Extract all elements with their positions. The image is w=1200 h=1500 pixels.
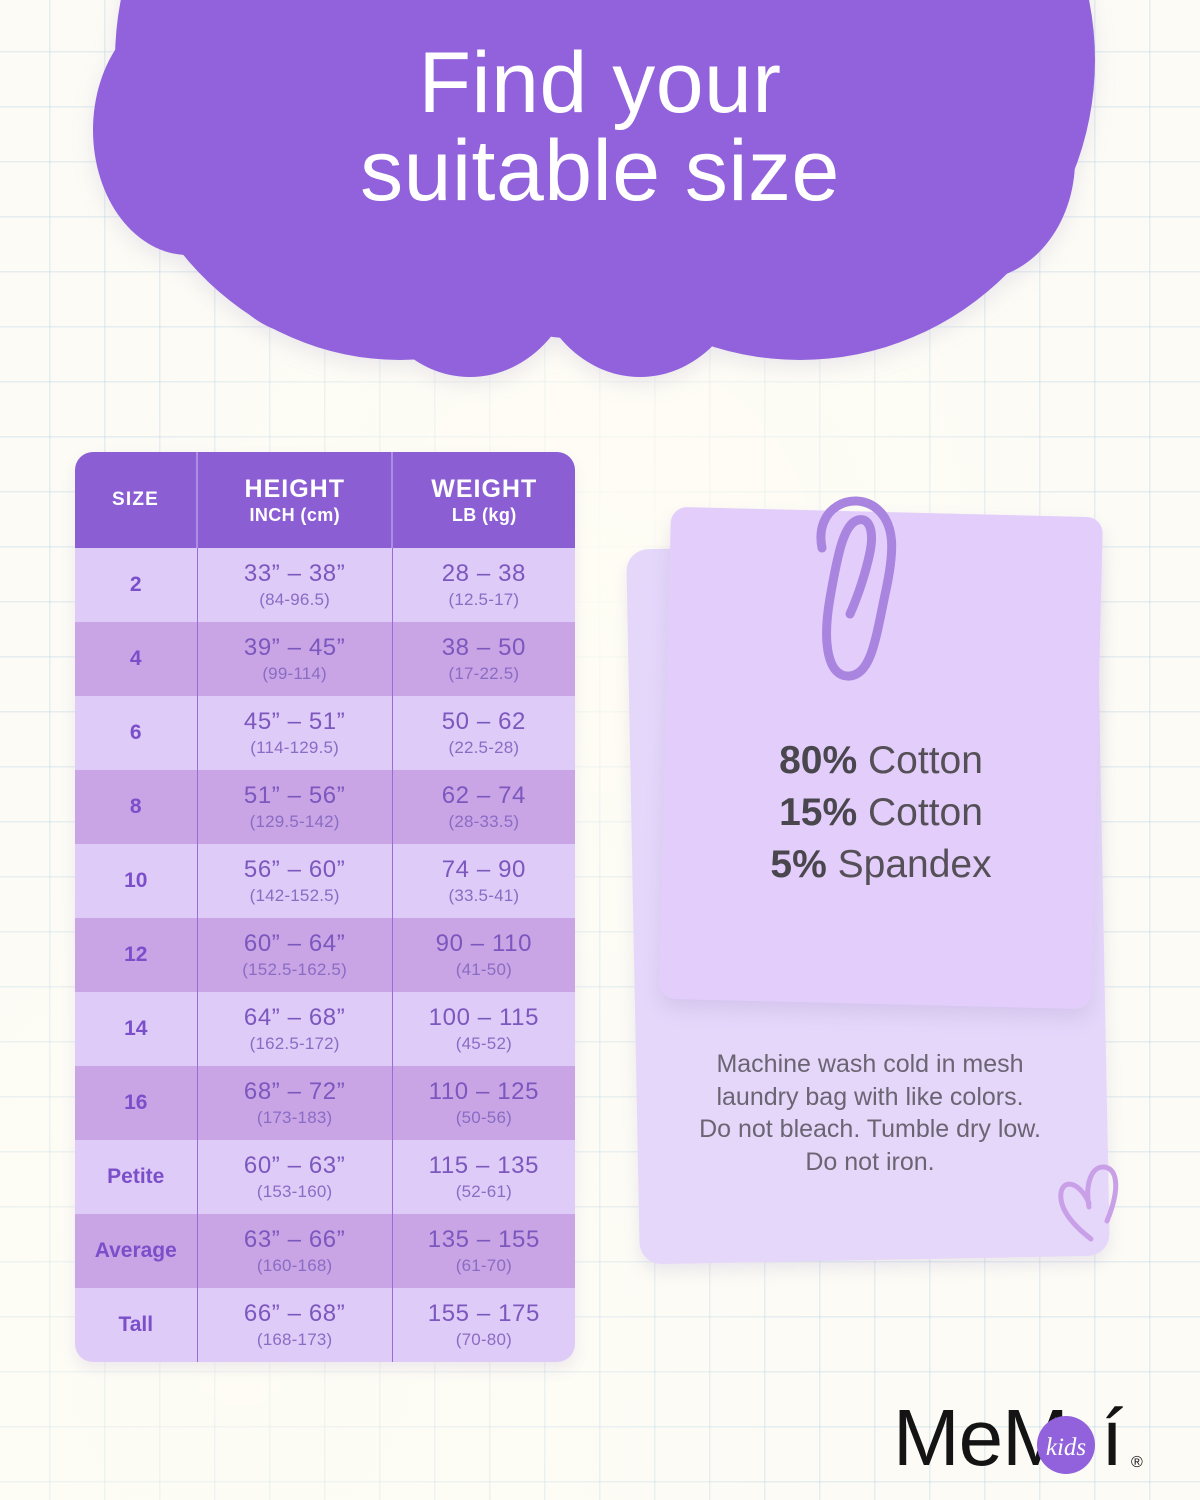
cell-size: 4: [75, 622, 197, 696]
column-header-height-label: HEIGHT: [245, 475, 345, 504]
cell-weight: 100 – 115(45-52): [392, 992, 575, 1066]
weight-lb: 74 – 90: [442, 856, 526, 884]
height-cm: (152.5-162.5): [242, 960, 347, 980]
cell-height: 66” – 68”(168-173): [197, 1288, 392, 1362]
cell-height: 68” – 72”(173-183): [197, 1066, 392, 1140]
cell-size: Petite: [75, 1140, 197, 1214]
heart-doodle-icon: [1055, 1163, 1127, 1245]
svg-text:í: í: [1101, 1395, 1123, 1482]
weight-kg: (50-56): [456, 1108, 512, 1128]
height-cm: (153-160): [257, 1182, 333, 1202]
page-title-line-1: Find your: [0, 40, 1200, 128]
size-value: 14: [124, 1017, 147, 1041]
svg-text:®: ®: [1131, 1454, 1143, 1471]
cell-weight: 135 – 155(61-70): [392, 1214, 575, 1288]
weight-kg: (52-61): [456, 1182, 512, 1202]
height-cm: (162.5-172): [250, 1034, 340, 1054]
table-row: 1056” – 60”(142-152.5)74 – 90(33.5-41): [75, 844, 575, 918]
cell-weight: 28 – 38(12.5-17): [392, 548, 575, 622]
composition-material: Cotton: [868, 791, 983, 834]
height-inches: 39” – 45”: [244, 634, 345, 662]
size-value: 4: [130, 647, 142, 671]
height-cm: (84-96.5): [259, 590, 330, 610]
cell-size: 2: [75, 548, 197, 622]
table-header-row: SIZE HEIGHT INCH (cm) WEIGHT LB (kg): [75, 452, 575, 548]
weight-kg: (45-52): [456, 1034, 512, 1054]
paperclip-icon: [800, 486, 920, 696]
cell-height: 60” – 64”(152.5-162.5): [197, 918, 392, 992]
svg-text:kids: kids: [1046, 1434, 1086, 1461]
cell-size: 16: [75, 1066, 197, 1140]
care-line: laundry bag with like colors.: [650, 1081, 1090, 1114]
height-cm: (142-152.5): [250, 886, 340, 906]
table-row: Tall66” – 68”(168-173)155 – 175(70-80): [75, 1288, 575, 1362]
cell-height: 33” – 38”(84-96.5): [197, 548, 392, 622]
size-value: 12: [124, 943, 147, 967]
table-row: 439” – 45”(99-114)38 – 50(17-22.5): [75, 622, 575, 696]
weight-lb: 50 – 62: [442, 708, 526, 736]
height-inches: 68” – 72”: [244, 1078, 345, 1106]
weight-lb: 115 – 135: [429, 1152, 539, 1180]
weight-kg: (33.5-41): [448, 886, 519, 906]
column-header-weight-units: LB (kg): [452, 505, 517, 526]
weight-lb: 90 – 110: [436, 930, 532, 958]
size-value: 10: [124, 869, 147, 893]
height-cm: (173-183): [257, 1108, 333, 1128]
height-inches: 51” – 56”: [244, 782, 345, 810]
size-value: Tall: [118, 1313, 153, 1337]
composition-line: 80% Cotton: [665, 735, 1097, 787]
composition-percent: 80%: [779, 739, 857, 782]
composition-material: Spandex: [838, 843, 992, 886]
cell-height: 51” – 56”(129.5-142): [197, 770, 392, 844]
care-line: Do not bleach. Tumble dry low.: [650, 1113, 1090, 1146]
height-inches: 56” – 60”: [244, 856, 345, 884]
cell-weight: 110 – 125(50-56): [392, 1066, 575, 1140]
size-value: 16: [124, 1091, 147, 1115]
weight-kg: (17-22.5): [448, 664, 519, 684]
size-value: 2: [130, 573, 142, 597]
weight-kg: (70-80): [456, 1330, 512, 1350]
weight-kg: (41-50): [456, 960, 512, 980]
column-header-weight-label: WEIGHT: [431, 475, 537, 504]
size-value: Petite: [107, 1165, 164, 1189]
cell-size: 6: [75, 696, 197, 770]
size-value: 8: [130, 795, 142, 819]
care-line: Do not iron.: [650, 1146, 1090, 1179]
cell-height: 63” – 66”(160-168): [197, 1214, 392, 1288]
cell-size: 12: [75, 918, 197, 992]
table-row: 645” – 51”(114-129.5)50 – 62(22.5-28): [75, 696, 575, 770]
cell-height: 39” – 45”(99-114): [197, 622, 392, 696]
height-inches: 60” – 64”: [244, 930, 345, 958]
cell-weight: 38 – 50(17-22.5): [392, 622, 575, 696]
height-inches: 45” – 51”: [244, 708, 345, 736]
height-cm: (114-129.5): [250, 738, 339, 758]
size-chart-table: SIZE HEIGHT INCH (cm) WEIGHT LB (kg) 233…: [75, 452, 575, 1362]
size-value: Average: [95, 1239, 177, 1263]
weight-kg: (22.5-28): [448, 738, 519, 758]
cell-weight: 74 – 90(33.5-41): [392, 844, 575, 918]
table-body: 233” – 38”(84-96.5)28 – 38(12.5-17)439” …: [75, 548, 575, 1362]
weight-lb: 100 – 115: [429, 1004, 539, 1032]
cell-size: Average: [75, 1214, 197, 1288]
cell-size: 10: [75, 844, 197, 918]
height-cm: (129.5-142): [250, 812, 340, 832]
cell-height: 64” – 68”(162.5-172): [197, 992, 392, 1066]
table-row: 1668” – 72”(173-183)110 – 125(50-56): [75, 1066, 575, 1140]
care-instructions: Machine wash cold in mesh laundry bag wi…: [650, 1048, 1090, 1178]
table-row: 1464” – 68”(162.5-172)100 – 115(45-52): [75, 992, 575, 1066]
weight-kg: (61-70): [456, 1256, 512, 1276]
page-title-line-2: suitable size: [0, 128, 1200, 216]
height-inches: 60” – 63”: [244, 1152, 345, 1180]
weight-kg: (28-33.5): [448, 812, 519, 832]
height-inches: 63” – 66”: [244, 1226, 345, 1254]
weight-lb: 28 – 38: [442, 560, 526, 588]
cell-weight: 155 – 175(70-80): [392, 1288, 575, 1362]
size-value: 6: [130, 721, 142, 745]
column-header-height-units: INCH (cm): [249, 505, 340, 526]
composition-line: 5% Spandex: [665, 839, 1097, 891]
column-header-height: HEIGHT INCH (cm): [196, 452, 391, 548]
height-cm: (160-168): [257, 1256, 333, 1276]
height-inches: 66” – 68”: [244, 1300, 345, 1328]
cell-size: 8: [75, 770, 197, 844]
height-inches: 64” – 68”: [244, 1004, 345, 1032]
weight-lb: 155 – 175: [428, 1300, 540, 1328]
cell-weight: 62 – 74(28-33.5): [392, 770, 575, 844]
weight-lb: 62 – 74: [442, 782, 526, 810]
composition-percent: 5%: [770, 843, 826, 886]
table-row: Petite60” – 63”(153-160)115 – 135(52-61): [75, 1140, 575, 1214]
cell-size: 14: [75, 992, 197, 1066]
cell-height: 56” – 60”(142-152.5): [197, 844, 392, 918]
cell-height: 60” – 63”(153-160): [197, 1140, 392, 1214]
height-cm: (168-173): [257, 1330, 333, 1350]
table-row: 851” – 56”(129.5-142)62 – 74(28-33.5): [75, 770, 575, 844]
cell-size: Tall: [75, 1288, 197, 1362]
cell-weight: 90 – 110(41-50): [392, 918, 575, 992]
cell-weight: 50 – 62(22.5-28): [392, 696, 575, 770]
weight-kg: (12.5-17): [448, 590, 519, 610]
column-header-weight: WEIGHT LB (kg): [391, 452, 575, 548]
composition-percent: 15%: [779, 791, 857, 834]
page-title: Find your suitable size: [0, 40, 1200, 215]
composition-line: 15% Cotton: [665, 787, 1097, 839]
weight-lb: 135 – 155: [428, 1226, 540, 1254]
cell-height: 45” – 51”(114-129.5): [197, 696, 392, 770]
table-row: Average63” – 66”(160-168)135 – 155(61-70…: [75, 1214, 575, 1288]
cell-weight: 115 – 135(52-61): [392, 1140, 575, 1214]
column-header-size-label: SIZE: [112, 489, 159, 511]
height-cm: (99-114): [262, 664, 327, 684]
column-header-size: SIZE: [75, 452, 196, 548]
height-inches: 33” – 38”: [244, 560, 345, 588]
table-row: 233” – 38”(84-96.5)28 – 38(12.5-17): [75, 548, 575, 622]
weight-lb: 38 – 50: [442, 634, 526, 662]
composition-material: Cotton: [868, 739, 983, 782]
table-row: 1260” – 64”(152.5-162.5)90 – 110(41-50): [75, 918, 575, 992]
memoi-kids-logo: MeM kids í ®: [893, 1395, 1148, 1487]
weight-lb: 110 – 125: [429, 1078, 539, 1106]
care-line: Machine wash cold in mesh: [650, 1048, 1090, 1081]
fabric-composition: 80% Cotton 15% Cotton 5% Spandex: [665, 735, 1097, 891]
